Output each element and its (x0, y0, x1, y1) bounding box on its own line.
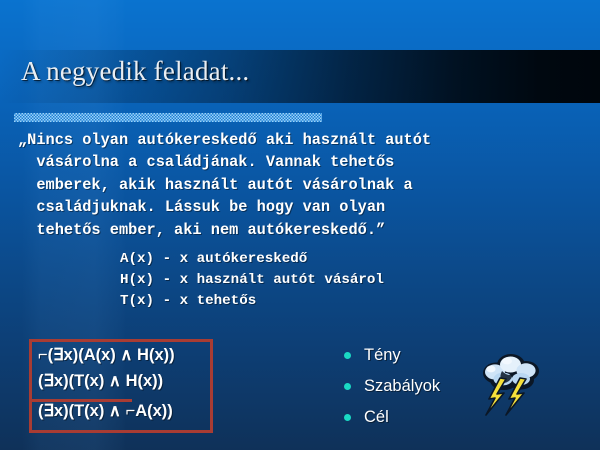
bullet-dot-icon (344, 383, 351, 390)
page-title: A negyedik feladat... (21, 54, 249, 88)
quote-line-4: családjuknak. Lássuk be hogy van olyan (18, 198, 385, 216)
quote-line-1: „Nincs olyan autókereskedő aki használt … (18, 131, 431, 149)
bullet-dot-icon (344, 414, 351, 421)
predicate-definitions: A(x) - x autókereskedő H(x) - x használt… (120, 249, 384, 312)
quote-line-2: vásárolna a családjának. Vannak tehetős (18, 153, 394, 171)
bullet-dot-icon (344, 352, 351, 359)
list-item-label: Cél (364, 408, 389, 426)
bullet-list: Tény Szabályok Cél (338, 340, 488, 433)
list-item: Tény (338, 340, 488, 371)
predicate-line-t: T(x) - x tehetős (120, 293, 256, 309)
presentation-slide: A negyedik feladat... „Nincs olyan autók… (0, 0, 600, 450)
storm-cloud-lightning-icon (472, 349, 550, 427)
formula-premise-2: (∃x)(T(x) ∧ H(x)) (38, 371, 163, 391)
list-item: Szabályok (338, 371, 488, 402)
predicate-line-a: A(x) - x autókereskedő (120, 251, 307, 267)
formula-premise-1: ⌐(∃x)(A(x) ∧ H(x)) (38, 345, 175, 365)
list-item-label: Szabályok (364, 377, 440, 395)
title-divider-rule (14, 113, 322, 122)
formula-conclusion: (∃x)(T(x) ∧ ⌐A(x)) (38, 401, 173, 421)
list-item-label: Tény (364, 346, 401, 364)
derivation-box: ⌐(∃x)(A(x) ∧ H(x)) (∃x)(T(x) ∧ H(x)) (∃x… (29, 339, 213, 433)
quote-line-3: emberek, akik használt autót vásárolnak … (18, 176, 413, 194)
predicate-line-h: H(x) - x használt autót vásárol (120, 272, 384, 288)
quote-line-5: tehetős ember, aki nem autókereskedő.” (18, 221, 385, 239)
list-item: Cél (338, 402, 488, 433)
quote-paragraph: „Nincs olyan autókereskedő aki használt … (18, 129, 588, 241)
